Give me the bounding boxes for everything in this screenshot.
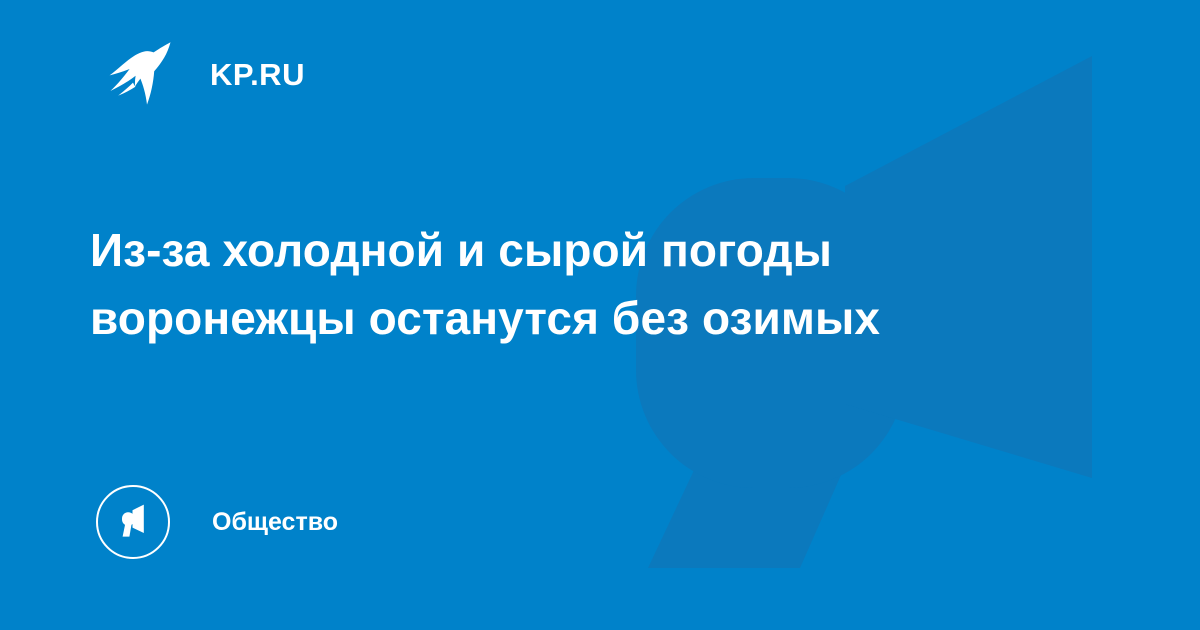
brand-logo[interactable]: KP.RU	[108, 38, 305, 110]
headline: Из‑за холодной и сырой погоды воронежцы …	[90, 216, 1090, 352]
rubric-label: Общество	[212, 510, 338, 535]
swallow-bird-icon	[108, 39, 174, 109]
social-share-card: KP.RU Из‑за холодной и сырой погоды воро…	[0, 0, 1200, 630]
brand-name: KP.RU	[210, 59, 305, 90]
rubric-badge[interactable]: Общество	[96, 484, 338, 560]
rubric-icon-circle	[96, 485, 170, 559]
megaphone-icon	[113, 502, 153, 542]
